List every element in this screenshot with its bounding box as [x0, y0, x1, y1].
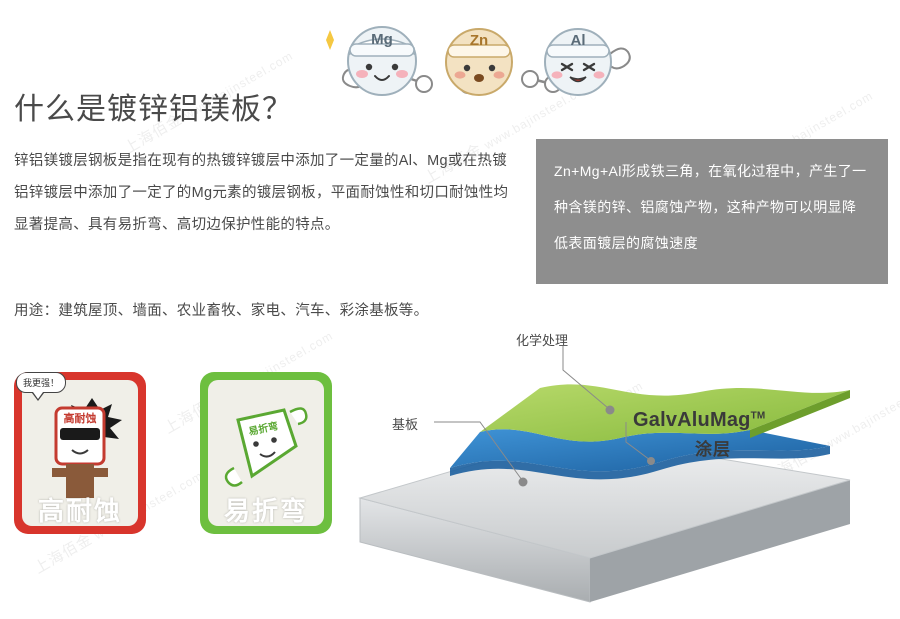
brand-name: GalvAluMag — [633, 409, 751, 431]
callout-box: Zn+Mg+Al形成铁三角，在氧化过程中，产生了一种含镁的锌、铝腐蚀产物，这种产… — [536, 139, 888, 284]
label-coating: 涂层 — [695, 435, 731, 460]
page-title: 什么是镀锌铝镁板？ — [14, 84, 293, 128]
svg-text:Al: Al — [571, 32, 586, 49]
feature-card-corrosion[interactable]: 高耐蚀 我更强！ 高耐蚀 — [14, 372, 146, 534]
board-structure-diagram: 化学处理 基板 GalvAluMagTM 涂层 — [330, 330, 900, 614]
sparkle-icon — [326, 30, 334, 50]
feature-card-label: 易折弯 — [200, 491, 332, 528]
feature-card-label: 高耐蚀 — [14, 491, 146, 528]
label-chemical-treatment: 化学处理 — [516, 330, 568, 349]
brand-tm: TM — [751, 410, 766, 421]
mascot-al: Al — [545, 29, 611, 95]
svg-text:Mg: Mg — [371, 31, 393, 48]
svg-text:Zn: Zn — [470, 32, 488, 49]
mascot-zn: Zn — [446, 29, 512, 95]
mascot-group: Mg Zn Al — [316, 14, 656, 119]
feature-card-bend[interactable]: 易折弯 易折弯 — [200, 372, 332, 534]
intro-paragraph: 锌铝镁镀层钢板是指在现有的热镀锌镀层中添加了一定量的Al、Mg或在热镀铝锌镀层中… — [14, 145, 519, 241]
mascot-mg: Mg — [348, 27, 416, 95]
speech-bubble: 我更强！ — [16, 372, 66, 393]
usage-line: 用途：建筑屋顶、墙面、农业畜牧、家电、汽车、彩涂基板等。 — [14, 297, 614, 325]
label-substrate: 基板 — [392, 414, 418, 433]
intro-paragraph-block: 锌铝镁镀层钢板是指在现有的热镀锌镀层中添加了一定量的Al、Mg或在热镀铝锌镀层中… — [14, 145, 519, 255]
page-root: 上海佰金 www.bajinsteel.com 上海佰金 www.bajinst… — [0, 0, 900, 614]
svg-text:高耐蚀: 高耐蚀 — [64, 411, 97, 425]
label-brand: GalvAluMagTM — [633, 409, 765, 432]
